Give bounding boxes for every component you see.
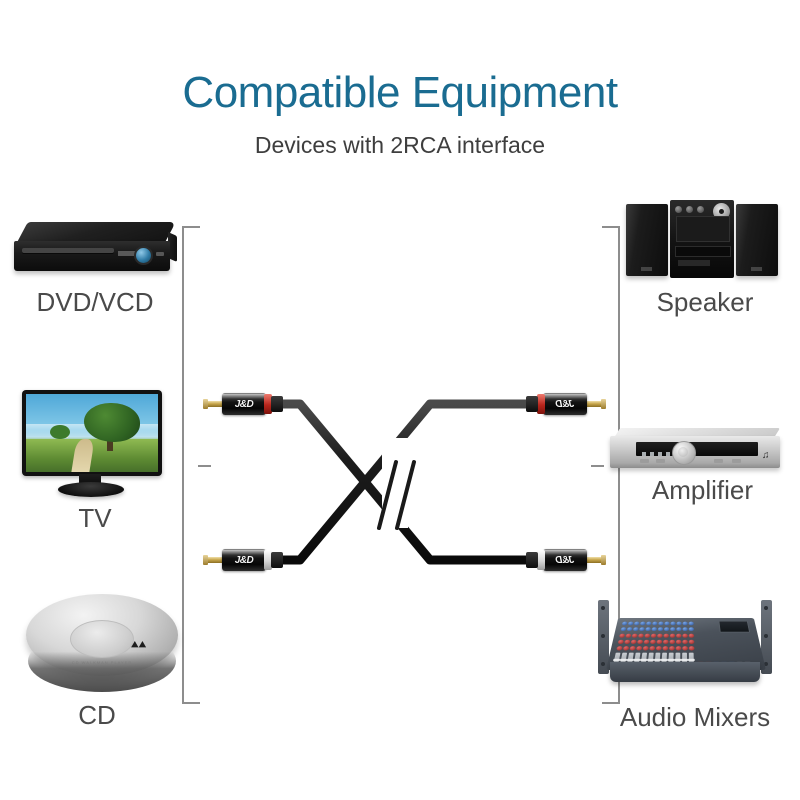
mixer-knob bbox=[663, 634, 669, 638]
mixer-knob bbox=[676, 622, 681, 626]
rca-strain-relief bbox=[526, 552, 538, 568]
infographic-canvas: Compatible Equipment Devices with 2RCA i… bbox=[0, 0, 800, 800]
dvd-front-panel bbox=[14, 241, 170, 271]
cable-path-white-channel bbox=[283, 404, 532, 560]
page-subtitle: Devices with 2RCA interface bbox=[0, 132, 800, 159]
rca-strain-relief bbox=[526, 396, 538, 412]
device-label-audio-mixers: Audio Mixers bbox=[600, 702, 790, 733]
dvd-knob bbox=[134, 246, 153, 265]
mixer-knob bbox=[662, 646, 668, 650]
amplifier-led bbox=[666, 452, 670, 456]
mixer-display bbox=[719, 621, 751, 632]
tv-bezel bbox=[22, 390, 162, 476]
rca-barrel: J&D bbox=[222, 393, 266, 415]
amplifier-button bbox=[640, 459, 649, 463]
mixer-knob bbox=[616, 646, 623, 650]
cd-player-body: ⯅⯅ CD WALKMAN PLAYER bbox=[26, 594, 178, 676]
mixer-knob bbox=[636, 646, 642, 650]
amplifier-volume-knob bbox=[672, 441, 696, 465]
mixer-knob-row-red bbox=[619, 634, 694, 638]
mixer-knob bbox=[638, 634, 644, 638]
cable-break-slash-left bbox=[379, 462, 396, 528]
mixer-knob bbox=[670, 622, 675, 626]
amplifier-brand-mark: ♫ bbox=[762, 450, 771, 461]
dvd-disc-tray bbox=[22, 248, 114, 253]
cable-break-slash-right bbox=[397, 462, 414, 528]
mixer-knob bbox=[683, 622, 688, 626]
mixer-knob bbox=[631, 640, 637, 644]
tv-screen bbox=[26, 394, 158, 472]
right-bracket-tick bbox=[591, 465, 604, 467]
amplifier-led bbox=[642, 452, 646, 456]
device-label-dvd: DVD/VCD bbox=[5, 287, 185, 318]
mixer-knob bbox=[689, 634, 694, 638]
mixer-rack-hole bbox=[601, 662, 605, 666]
mixer-knob bbox=[651, 634, 657, 638]
rca-brand-logo: J&D bbox=[543, 555, 587, 566]
mixer-knob bbox=[628, 622, 634, 626]
mixer-knob-row-blue bbox=[620, 627, 694, 631]
mixer-knob bbox=[618, 640, 624, 644]
amplifier-button bbox=[714, 459, 723, 463]
tv-small-tree bbox=[50, 425, 70, 439]
mixer-knob bbox=[689, 646, 695, 650]
mixer-knob bbox=[619, 634, 625, 638]
amplifier-button bbox=[732, 459, 741, 463]
mixer-knob bbox=[650, 640, 656, 644]
mixer-knob bbox=[689, 627, 694, 631]
amplifier-led bbox=[650, 452, 654, 456]
mixer-knob bbox=[664, 622, 669, 626]
mixer-knob bbox=[620, 627, 626, 631]
audio-mixer-icon bbox=[596, 592, 774, 696]
speaker-left-box bbox=[626, 204, 668, 276]
mixer-knob bbox=[676, 640, 682, 644]
rca-barrel: J&D bbox=[543, 549, 587, 571]
speaker-left-badge bbox=[641, 267, 652, 271]
device-label-amplifier: Amplifier bbox=[615, 475, 790, 506]
mixer-knob bbox=[649, 646, 655, 650]
mixer-knob bbox=[656, 640, 662, 644]
mixer-knob bbox=[627, 627, 633, 631]
mixer-knob bbox=[656, 646, 662, 650]
cd-player-brand-text: CD WALKMAN PLAYER bbox=[62, 660, 142, 665]
speaker-right-badge bbox=[751, 267, 762, 271]
mixer-knob bbox=[633, 627, 639, 631]
device-label-cd: CD bbox=[12, 700, 182, 731]
cable-break-mask bbox=[382, 438, 408, 528]
amplifier-icon: ♫ bbox=[610, 428, 785, 476]
amplifier-display-panel bbox=[636, 442, 758, 456]
mixer-rack-hole bbox=[764, 606, 768, 610]
page-title: Compatible Equipment bbox=[0, 68, 800, 118]
amplifier-button bbox=[656, 459, 665, 463]
mixer-rack-hole bbox=[601, 606, 605, 610]
speaker-right-box bbox=[736, 204, 778, 276]
mixer-knob bbox=[658, 627, 664, 631]
mixer-knob bbox=[644, 640, 650, 644]
speaker-system-icon bbox=[624, 200, 784, 282]
mixer-knob bbox=[658, 622, 663, 626]
mixer-knob bbox=[670, 627, 675, 631]
speaker-knob bbox=[675, 206, 682, 213]
mixer-knob bbox=[652, 622, 658, 626]
rca-channel-ring-white bbox=[537, 550, 545, 570]
mixer-knob bbox=[643, 646, 649, 650]
dvd-button bbox=[156, 252, 164, 256]
speaker-knob bbox=[686, 206, 693, 213]
mixer-knob bbox=[623, 646, 629, 650]
mixer-knob bbox=[624, 640, 630, 644]
speaker-knob-row bbox=[675, 206, 705, 214]
mixer-knob bbox=[646, 622, 652, 626]
speaker-disc-slot bbox=[675, 246, 731, 257]
mixer-knob bbox=[637, 640, 643, 644]
mixer-knob bbox=[689, 640, 695, 644]
dvd-player-icon bbox=[14, 222, 180, 284]
rca-channel-ring-red bbox=[537, 394, 545, 414]
amplifier-led bbox=[658, 452, 662, 456]
tv-tree-crown bbox=[84, 403, 139, 442]
speaker-status-display bbox=[678, 260, 710, 266]
rca-strain-relief bbox=[271, 552, 283, 568]
rca-barrel: J&D bbox=[543, 393, 587, 415]
mixer-knob bbox=[682, 646, 688, 650]
television-icon bbox=[22, 390, 172, 500]
mixer-knob bbox=[682, 634, 687, 638]
mixer-knob bbox=[644, 634, 650, 638]
cd-player-icon: ⯅⯅ CD WALKMAN PLAYER bbox=[26, 586, 186, 694]
rca-brand-logo: J&D bbox=[222, 399, 266, 410]
cd-player-logo: ⯅⯅ bbox=[130, 640, 152, 651]
mixer-knob-row-red bbox=[618, 640, 695, 644]
mixer-knob bbox=[625, 634, 631, 638]
mixer-rack-hole bbox=[601, 634, 605, 638]
mixer-knob bbox=[676, 646, 682, 650]
left-bracket-tick bbox=[198, 465, 211, 467]
mixer-knob bbox=[682, 640, 688, 644]
device-label-tv: TV bbox=[10, 503, 180, 534]
mixer-knob bbox=[670, 634, 676, 638]
mixer-knob bbox=[634, 622, 640, 626]
rca-brand-logo: J&D bbox=[222, 555, 266, 566]
cd-player-lid-circle bbox=[70, 620, 134, 658]
mixer-knob bbox=[645, 627, 651, 631]
mixer-knob bbox=[676, 627, 681, 631]
mixer-knob bbox=[663, 640, 669, 644]
mixer-knob bbox=[622, 622, 628, 626]
mixer-knob bbox=[669, 640, 675, 644]
mixer-knob bbox=[640, 622, 646, 626]
mixer-knob bbox=[651, 627, 657, 631]
rca-barrel: J&D bbox=[222, 549, 266, 571]
cable-path-red-channel bbox=[283, 404, 532, 560]
mixer-knob bbox=[689, 622, 694, 626]
mixer-knob bbox=[629, 646, 635, 650]
mixer-knob bbox=[676, 634, 681, 638]
rca-connector-top-right: J&D bbox=[524, 391, 602, 417]
speaker-center-unit bbox=[670, 200, 734, 278]
rca-connector-bottom-left: J&D bbox=[207, 547, 285, 573]
rca-brand-logo: J&D bbox=[543, 399, 587, 410]
mixer-knob bbox=[669, 646, 675, 650]
mixer-knob-row-blue bbox=[622, 622, 694, 626]
mixer-front-chassis bbox=[610, 662, 760, 682]
speaker-display-window bbox=[676, 216, 730, 242]
mixer-knob-row-red bbox=[616, 646, 694, 650]
mixer-knob bbox=[639, 627, 645, 631]
device-label-speaker: Speaker bbox=[620, 287, 790, 318]
tv-stand-base bbox=[58, 482, 124, 497]
mixer-rack-hole bbox=[764, 634, 768, 638]
rca-connector-bottom-right: J&D bbox=[524, 547, 602, 573]
mixer-knob bbox=[657, 634, 663, 638]
amplifier-front-panel: ♫ bbox=[610, 436, 780, 468]
speaker-knob bbox=[697, 206, 704, 213]
mixer-knob bbox=[664, 627, 670, 631]
rca-strain-relief bbox=[271, 396, 283, 412]
mixer-knob bbox=[682, 627, 687, 631]
rca-connector-top-left: J&D bbox=[207, 391, 285, 417]
mixer-knob bbox=[632, 634, 638, 638]
